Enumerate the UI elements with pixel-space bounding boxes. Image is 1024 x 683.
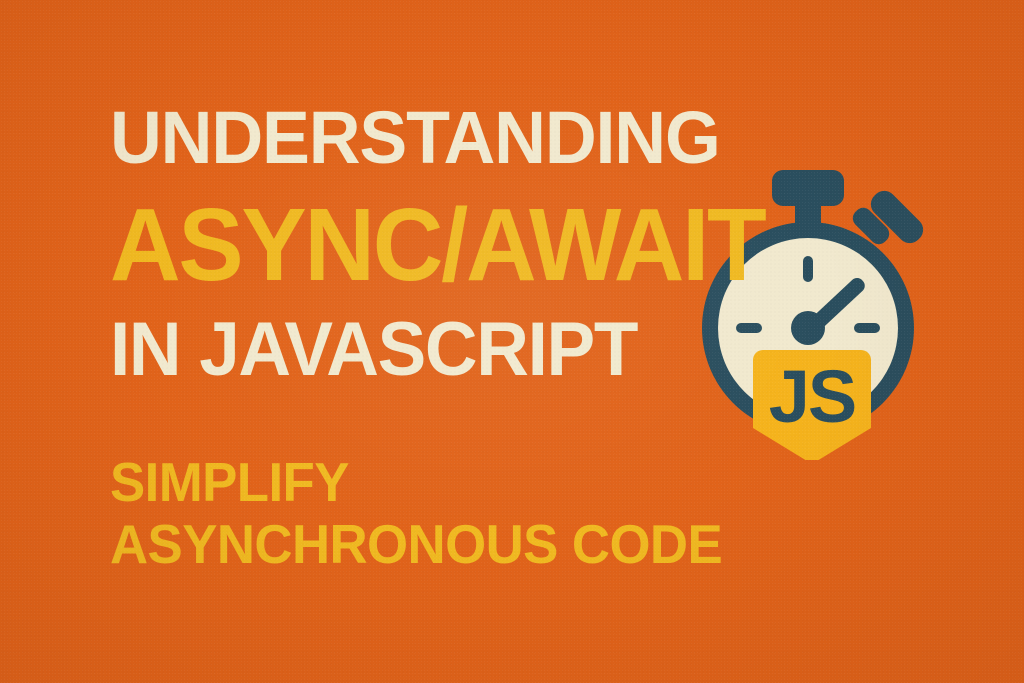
headline-block: UNDERSTANDING ASYNC/AWAIT IN JAVASCRIPT: [110, 104, 799, 385]
tick-mark-3-icon: [854, 323, 880, 333]
headline-line-3: IN JAVASCRIPT: [110, 315, 771, 385]
headline-line-1: UNDERSTANDING: [110, 104, 778, 172]
poster-canvas: JS UNDERSTANDING ASYNC/AWAIT IN JAVASCRI…: [0, 0, 1024, 683]
subtitle-text: SIMPLIFY ASYNCHRONOUS CODE: [110, 452, 782, 575]
tick-mark-12-icon: [803, 256, 813, 282]
headline-line-2: ASYNC/AWAIT: [110, 198, 764, 293]
